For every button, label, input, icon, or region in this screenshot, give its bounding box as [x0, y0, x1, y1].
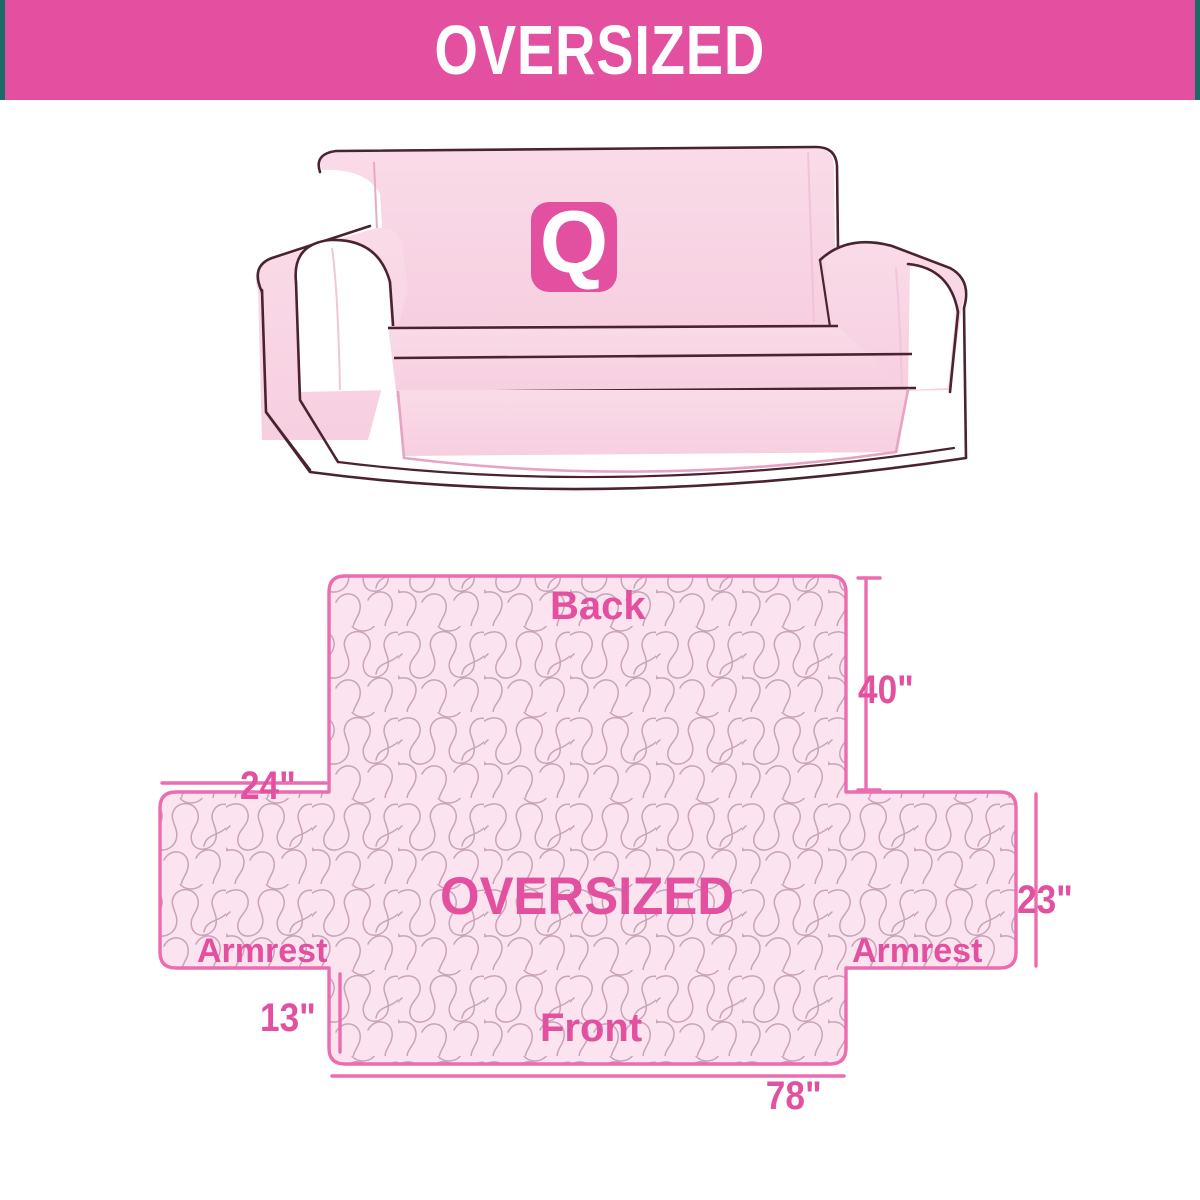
panel-label-armrest-right: Armrest [852, 934, 982, 968]
dimension-value-front-drop: 13" [260, 998, 316, 1038]
sofa-seat-cushions [388, 325, 916, 392]
accent-stripe-left [0, 0, 5, 100]
header-banner: OVERSIZED [0, 0, 1200, 100]
accent-stripe-right [1195, 0, 1200, 100]
sofa-illustration: Q [248, 140, 978, 510]
panel-label-armrest-left: Armrest [197, 934, 327, 968]
dimension-diagram: Back Front Armrest Armrest OVERSIZED 40"… [140, 540, 1140, 1140]
slipcover-outline [160, 576, 1016, 1064]
dimension-value-armrest-width: 24" [240, 766, 296, 806]
dimension-value-armrest-height: 23" [1017, 880, 1073, 920]
dimension-value-back-height: 40" [858, 670, 914, 710]
panel-label-front: Front [540, 1008, 642, 1048]
panel-label-back: Back [550, 586, 646, 626]
page-title: OVERSIZED [435, 15, 766, 85]
sofa-left-arm [256, 226, 408, 470]
dimension-value-overall-width: 78" [766, 1076, 822, 1116]
brand-logo-letter: Q [540, 192, 608, 291]
brand-logo-badge: Q [531, 192, 617, 292]
diagram-center-label: OVERSIZED [440, 870, 734, 923]
